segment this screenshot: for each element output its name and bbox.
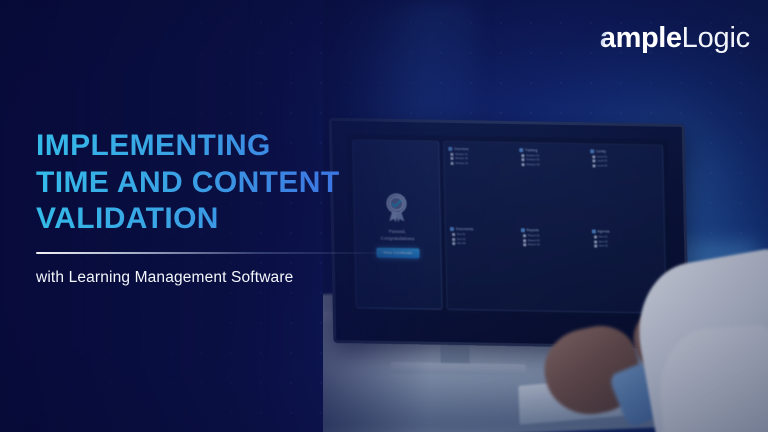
hero-banner: Passed, Congratulations View Certificate… <box>0 0 768 432</box>
page-title: IMPLEMENTING TIME AND CONTENT VALIDATION <box>36 128 436 238</box>
headline-line-3: VALIDATION <box>36 201 436 238</box>
logo-word-ample: mple <box>616 24 682 53</box>
amplelogic-logo[interactable]: ampleLogic <box>600 24 750 53</box>
hero-copy: IMPLEMENTING TIME AND CONTENT VALIDATION… <box>36 128 436 287</box>
title-divider <box>36 252 391 255</box>
headline-line-2: TIME AND CONTENT <box>36 165 436 202</box>
logo-letter-a: a <box>600 24 616 53</box>
headline-line-1: IMPLEMENTING <box>36 128 436 165</box>
logo-word-logic: Logic <box>682 24 750 53</box>
subtitle: with Learning Management Software <box>36 269 436 287</box>
